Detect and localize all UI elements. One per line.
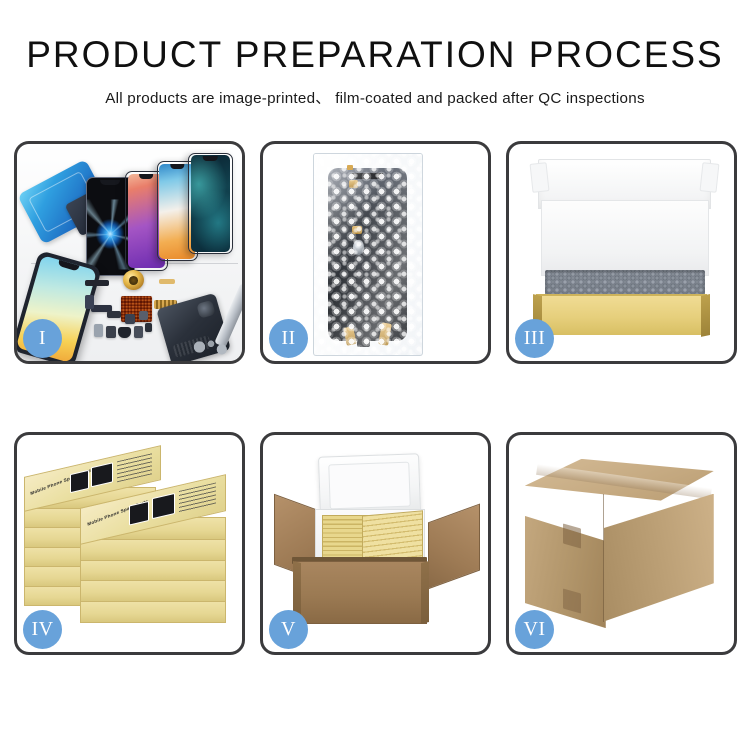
step-badge-5: V [269,610,308,649]
step-panel-1: I [14,141,245,364]
box-side [80,559,226,582]
step-panel-4: Mobile Phone Spare Parts Mobile Phone Sp… [14,432,245,655]
page-subtitle: All products are image-printed、 film-coa… [0,86,750,108]
step-badge-3: III [515,319,554,358]
box-side [80,600,226,623]
notch [203,156,218,161]
carton-front-panel [295,561,428,624]
foam-sheet [541,200,710,276]
small-part [145,323,152,332]
bubble-wrap-bag [313,153,423,357]
header: PRODUCT PREPARATION PROCESS All products… [0,0,750,108]
phone-screen [191,155,231,252]
phone-dark-teal [188,153,233,255]
step-badge-2: II [269,319,308,358]
box-side [80,538,226,561]
small-part [134,326,143,338]
screws [193,339,229,354]
page-title: PRODUCT PREPARATION PROCESS [0,36,750,75]
step-badge-4: IV [23,610,62,649]
box-print-phone [152,493,176,520]
box-print-phone [129,501,150,526]
plastic-sheen [314,154,422,356]
notch [100,180,120,185]
carton-corner-seam [603,494,604,622]
box-print-phone [91,462,113,487]
step-badge-1: I [23,319,62,358]
lightning-wallpaper [92,215,129,254]
box-print-textlines [179,483,216,515]
carton-flap-right [428,504,480,590]
small-part [118,327,130,338]
small-part [139,311,148,320]
box-print-phone [69,470,89,493]
tape-piece [347,165,353,170]
step-panel-6: VI [506,432,737,655]
small-part [94,324,103,337]
product-preparation-process-infographic: PRODUCT PREPARATION PROCESS All products… [0,0,750,750]
step-panel-2: II [260,141,491,364]
small-part [125,314,135,324]
box-front-panel [536,296,707,335]
box-print-textlines [117,453,152,483]
dark-bar-part [85,280,110,286]
box-side [80,579,226,602]
small-part [106,326,116,338]
small-part [107,311,121,318]
styrofoam-lid [318,453,421,517]
carton-right-face [604,494,714,622]
process-step-grid: I II [14,141,737,655]
notch [139,174,153,179]
inner-boxes-row-2 [362,510,423,563]
step-badge-6: VI [515,610,554,649]
step-panel-3: III [506,141,737,364]
step-panel-5: V [260,432,491,655]
flex-cable-3 [159,279,175,285]
